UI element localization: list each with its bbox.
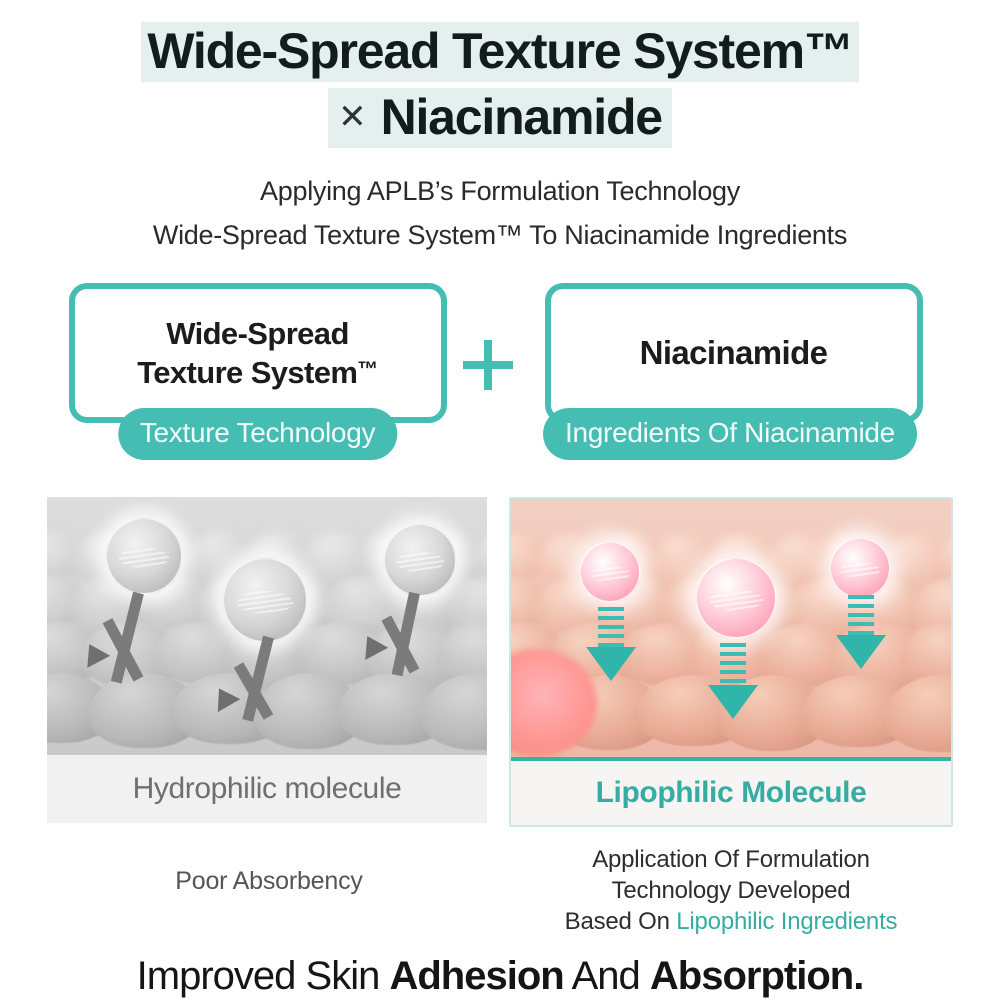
hydrophilic-illustration bbox=[47, 497, 487, 755]
lipophilic-note-line-1: Application Of Formulation bbox=[511, 845, 951, 876]
combo-left: Wide-Spread Texture System™ Texture Tech… bbox=[63, 283, 453, 423]
title-text-primary: Wide-Spread Texture System™ bbox=[141, 22, 858, 82]
arrowhead-pink-1 bbox=[586, 647, 636, 681]
arrowhead-gray-1 bbox=[78, 639, 110, 669]
footer-bold-absorption: Absorption. bbox=[650, 954, 863, 998]
title-text-secondary: Niacinamide bbox=[381, 89, 662, 145]
panel-notes: Poor Absorbency Application Of Formulati… bbox=[0, 845, 1000, 937]
texture-card-line-2-text: Texture System bbox=[137, 355, 357, 390]
hydrophilic-caption-text: Hydrophilic molecule bbox=[133, 772, 402, 806]
bounce-arrow-gray-1 bbox=[83, 593, 173, 703]
note-line-3-highlight: Lipophilic Ingredients bbox=[676, 908, 897, 935]
title-line-2: ✕Niacinamide bbox=[0, 88, 1000, 148]
niacinamide-card-line-1: Niacinamide bbox=[640, 332, 828, 374]
lipophilic-illustration bbox=[511, 499, 951, 757]
title-line-1: Wide-Spread Texture System™ bbox=[0, 22, 1000, 82]
absorb-arrow-pink-1 bbox=[583, 607, 639, 685]
texture-card-line-1: Wide-Spread bbox=[166, 314, 349, 354]
lipophilic-note: Application Of Formulation Technology De… bbox=[511, 845, 951, 937]
title-block: Wide-Spread Texture System™ ✕Niacinamide bbox=[0, 0, 1000, 148]
arrow-tail bbox=[598, 607, 624, 651]
lipophilic-note-line-3: Based On Lipophilic Ingredients bbox=[511, 907, 951, 938]
footer-part-1: Improved Skin bbox=[137, 954, 390, 998]
absorb-arrow-pink-2 bbox=[705, 643, 761, 723]
molecule-gray-3 bbox=[383, 523, 457, 597]
trademark-icon: ™ bbox=[357, 358, 377, 381]
arrowhead-pink-2 bbox=[708, 685, 758, 719]
title-line-2-highlight: ✕Niacinamide bbox=[328, 88, 672, 148]
bounce-arrow-gray-2 bbox=[197, 637, 287, 747]
arrow-tail bbox=[848, 595, 874, 639]
texture-system-card: Wide-Spread Texture System™ bbox=[69, 283, 447, 423]
panel-lipophilic: Lipophilic Molecule bbox=[509, 497, 953, 827]
comparison-panels: Hydrophilic molecule Lipophilic Mol bbox=[0, 497, 1000, 827]
plus-icon bbox=[453, 336, 523, 392]
arrowhead-gray-2 bbox=[208, 682, 241, 712]
molecule-gray-1 bbox=[105, 517, 183, 595]
footer-tagline: Improved Skin Adhesion And Absorption. bbox=[0, 954, 1000, 999]
note-line-3-prefix: Based On bbox=[565, 908, 677, 935]
hydrophilic-caption-band: Hydrophilic molecule bbox=[47, 755, 487, 823]
combo-right: Niacinamide Ingredients Of Niacinamide bbox=[523, 283, 938, 423]
arrowhead-pink-3 bbox=[836, 635, 886, 669]
subtitle-line-1: Applying APLB’s Formulation Technology bbox=[0, 170, 1000, 214]
molecule-gray-2 bbox=[222, 557, 308, 643]
texture-card-line-2: Texture System™ bbox=[137, 353, 378, 393]
absorb-arrow-pink-3 bbox=[833, 595, 889, 673]
lipophilic-caption-band: Lipophilic Molecule bbox=[511, 757, 951, 825]
subtitle-line-2: Wide-Spread Texture System™ To Niacinami… bbox=[0, 214, 1000, 258]
lipophilic-caption-text: Lipophilic Molecule bbox=[596, 776, 867, 810]
texture-technology-badge: Texture Technology bbox=[118, 408, 397, 460]
arrowhead-gray-3 bbox=[356, 631, 388, 661]
molecule-pink-2 bbox=[695, 557, 777, 639]
arrow-tail bbox=[720, 643, 746, 689]
hydrophilic-note: Poor Absorbency bbox=[49, 845, 489, 937]
poor-absorbency-text: Poor Absorbency bbox=[49, 867, 489, 896]
footer-bold-adhesion: Adhesion bbox=[389, 954, 563, 998]
footer-part-2: And bbox=[564, 954, 650, 998]
niacinamide-ingredients-badge: Ingredients Of Niacinamide bbox=[543, 408, 917, 460]
niacinamide-card: Niacinamide bbox=[545, 283, 923, 423]
cross-icon: ✕ bbox=[338, 98, 367, 136]
combo-section: Wide-Spread Texture System™ Texture Tech… bbox=[0, 283, 1000, 473]
plus-vertical-bar bbox=[484, 340, 492, 390]
panel-hydrophilic: Hydrophilic molecule bbox=[47, 497, 487, 827]
subtitle-block: Applying APLB’s Formulation Technology W… bbox=[0, 170, 1000, 257]
bounce-arrow-gray-3 bbox=[357, 593, 447, 703]
lipophilic-note-line-2: Technology Developed bbox=[511, 876, 951, 907]
